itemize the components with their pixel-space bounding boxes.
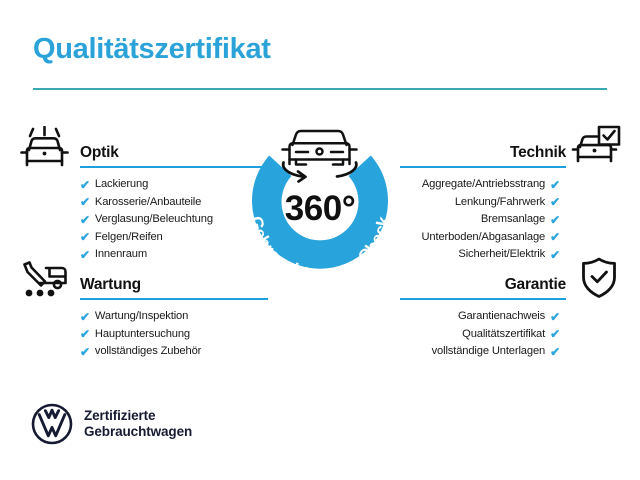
footer-text: Zertifizierte Gebrauchtwagen	[84, 408, 192, 441]
list-item-label: Unterboden/Abgasanlage	[422, 229, 546, 247]
check-icon: ✔	[80, 311, 90, 323]
list-item-label: Karosserie/Anbauteile	[95, 194, 201, 212]
check-icon: ✔	[80, 328, 90, 340]
list-item-label: Aggregate/Antriebsstrang	[422, 176, 545, 194]
section-wartung-title: Wartung	[80, 276, 141, 294]
list-item: ✔ Wartung/Inspektion	[80, 308, 268, 326]
page-title: Qualitätszertifikat	[33, 33, 271, 66]
check-icon: ✔	[80, 231, 90, 243]
section-wartung-underline	[80, 298, 268, 300]
car-service-wrench-icon	[18, 258, 72, 307]
list-item: Aggregate/Antriebsstrang ✔	[400, 176, 560, 194]
list-item-label: Lenkung/Fahrwerk	[455, 194, 545, 212]
section-technik-underline	[400, 166, 566, 168]
list-item: Garantienachweis ✔	[400, 308, 560, 326]
section-technik-header: Technik	[400, 126, 622, 168]
list-item: Bremsanlage ✔	[400, 211, 560, 229]
section-garantie-underline	[400, 298, 566, 300]
footer-line-1: Zertifizierte	[84, 408, 192, 425]
check-icon: ✔	[80, 179, 90, 191]
section-optik-title: Optik	[80, 144, 119, 162]
section-wartung-list: ✔ Wartung/Inspektion ✔ Hauptuntersuchung…	[18, 308, 268, 361]
shield-check-icon	[576, 256, 622, 305]
check-icon: ✔	[550, 346, 560, 358]
check-icon: ✔	[80, 214, 90, 226]
check-icon: ✔	[550, 179, 560, 191]
list-item: Lenkung/Fahrwerk ✔	[400, 194, 560, 212]
certificate-page: Qualitätszertifikat	[0, 0, 640, 480]
section-technik-list: Aggregate/Antriebsstrang ✔ Lenkung/Fahrw…	[400, 176, 622, 264]
vw-logo	[31, 403, 73, 445]
list-item: Qualitätszertifikat ✔	[400, 326, 560, 344]
car-headlights-icon	[18, 126, 72, 175]
check-icon: ✔	[550, 231, 560, 243]
section-garantie-header: Garantie	[400, 258, 622, 300]
list-item: Unterboden/Abgasanlage ✔	[400, 229, 560, 247]
list-item-label: Hauptuntersuchung	[95, 326, 190, 344]
list-item-label: Felgen/Reifen	[95, 229, 163, 247]
check-icon: ✔	[550, 328, 560, 340]
footer-brand: Zertifizierte Gebrauchtwagen	[31, 403, 192, 445]
list-item: ✔ vollständiges Zubehör	[80, 343, 268, 361]
check-icon: ✔	[80, 196, 90, 208]
section-garantie-title: Garantie	[505, 276, 566, 294]
list-item-label: Qualitätszertifikat	[462, 326, 545, 344]
list-item: vollständige Unterlagen ✔	[400, 343, 560, 361]
badge-center-label: 360°	[285, 189, 355, 228]
list-item-label: Garantienachweis	[458, 308, 545, 326]
footer-line-2: Gebrauchtwagen	[84, 424, 192, 441]
car-rotation-icon	[283, 131, 357, 182]
list-item-label: Lackierung	[95, 176, 148, 194]
title-divider	[33, 88, 607, 90]
list-item-label: Wartung/Inspektion	[95, 308, 188, 326]
list-item-label: vollständiges Zubehör	[95, 343, 201, 361]
check-icon: ✔	[550, 311, 560, 323]
check-icon: ✔	[80, 346, 90, 358]
car-checkbox-icon	[570, 124, 622, 173]
section-garantie-list: Garantienachweis ✔ Qualitätszertifikat ✔…	[400, 308, 622, 361]
list-item-label: Verglasung/Beleuchtung	[95, 211, 213, 229]
check-icon: ✔	[550, 196, 560, 208]
check-icon: ✔	[550, 214, 560, 226]
section-garantie: Garantie Garantienachweis ✔ Qualitätszer…	[400, 258, 622, 377]
list-item: ✔ Hauptuntersuchung	[80, 326, 268, 344]
list-item-label: vollständige Unterlagen	[432, 343, 545, 361]
list-item-label: Bremsanlage	[481, 211, 545, 229]
section-technik-title: Technik	[510, 144, 566, 162]
badge-360-gebrauchtwagen-check: Gebrauchtwagen-Check 360°	[228, 112, 412, 296]
